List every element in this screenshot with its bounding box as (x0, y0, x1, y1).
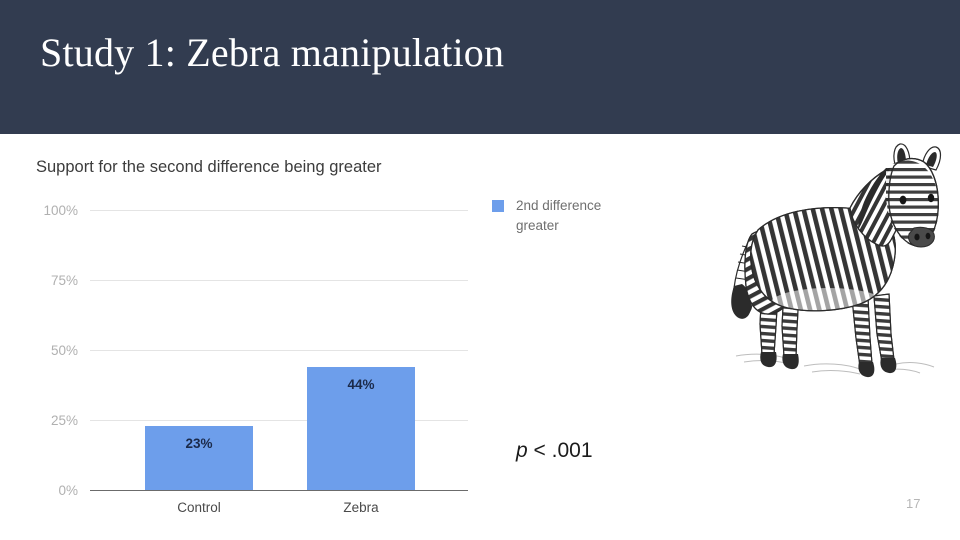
y-tick-label-25: 25% (16, 414, 78, 428)
y-tick-label-75: 75% (16, 274, 78, 288)
y-tick-label-100: 100% (16, 204, 78, 218)
p-value-annotation: p < .001 (516, 439, 593, 463)
page-title: Study 1: Zebra manipulation (40, 26, 504, 80)
nostril (914, 234, 919, 241)
gridline-75 (90, 280, 468, 281)
eye (928, 194, 934, 202)
slide-content-area: Support for the second difference being … (0, 134, 960, 540)
nostril (926, 233, 931, 239)
y-tick-label-50: 50% (16, 344, 78, 358)
x-axis-line (90, 490, 468, 491)
bar-value-label-zebra: 44% (307, 377, 415, 392)
gridline-100 (90, 210, 468, 211)
y-tick-label-0: 0% (16, 484, 78, 498)
p-symbol: p (516, 439, 528, 462)
bar-value-label-control: 23% (145, 436, 253, 451)
zebra-illustration (700, 138, 950, 388)
p-value-text: < .001 (534, 439, 593, 462)
x-tick-label-zebra: Zebra (291, 500, 431, 515)
page-number: 17 (906, 496, 942, 511)
chart-title: Support for the second difference being … (36, 158, 382, 177)
legend-item-label: 2nd difference greater (516, 196, 646, 236)
x-tick-label-control: Control (129, 500, 269, 515)
gridline-50 (90, 350, 468, 351)
bar-chart: Support for the second difference being … (16, 140, 676, 530)
legend-swatch-icon (492, 200, 504, 212)
eye (900, 196, 907, 205)
slide-header-bar: Study 1: Zebra manipulation (0, 0, 960, 134)
